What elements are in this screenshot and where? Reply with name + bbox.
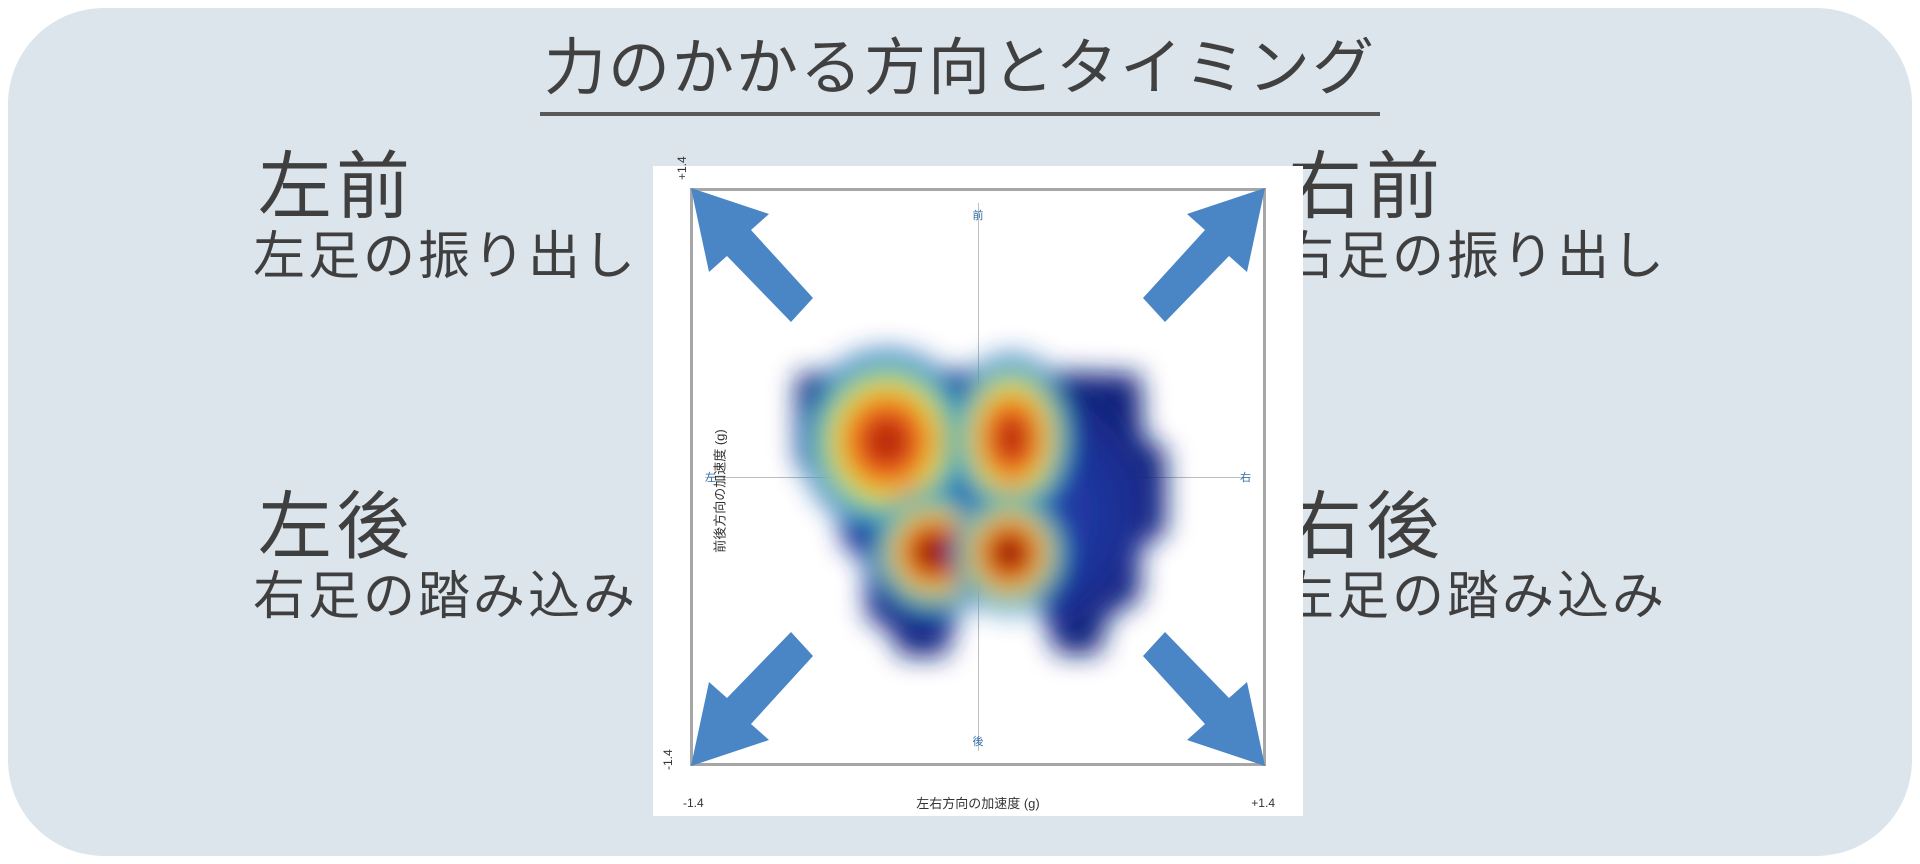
quadrant-left-front-description: 左足の振り出し [48,226,638,288]
quadrant-left-back-heading: 左後 [48,488,638,566]
y-axis-title: 前後方向の加速度 (g) [709,429,728,553]
quadrant-right-front: 右前 右足の振り出し [1282,148,1872,288]
direction-marker-back: 後 [973,733,984,749]
slide-panel: 力のかかる方向とタイミング 左前 左足の振り出し 右前 右足の振り出し 左後 右… [8,8,1912,856]
hotspot-right-back [952,494,1067,613]
quadrant-right-front-description: 右足の振り出し [1282,226,1872,288]
page-title-text: 力のかかる方向とタイミング [540,32,1380,116]
density-heatmap [693,191,1263,763]
plot-area: 前 後 左 右 [690,188,1266,766]
quadrant-right-back-heading: 右後 [1282,488,1872,566]
y-tick-min: -1.4 [661,749,675,770]
quadrant-left-back: 左後 右足の踏み込み [48,488,638,628]
acceleration-heatmap-chart: 前 後 左 右 [653,166,1303,816]
quadrant-right-back-description: 左足の踏み込み [1282,566,1872,628]
quadrant-right-front-heading: 右前 [1282,148,1872,226]
quadrant-right-back: 右後 左足の踏み込み [1282,488,1872,628]
direction-marker-front: 前 [973,207,984,223]
x-axis-title: 左右方向の加速度 (g) [653,793,1303,812]
quadrant-left-front: 左前 左足の振り出し [48,148,638,288]
quadrant-left-front-heading: 左前 [48,148,638,226]
slide-root: 力のかかる方向とタイミング 左前 左足の振り出し 右前 右足の振り出し 左後 右… [0,0,1920,864]
direction-marker-right: 右 [1240,469,1251,485]
quadrant-left-back-description: 右足の踏み込み [48,566,638,628]
page-title: 力のかかる方向とタイミング [8,32,1912,116]
y-tick-max: +1.4 [675,156,689,180]
